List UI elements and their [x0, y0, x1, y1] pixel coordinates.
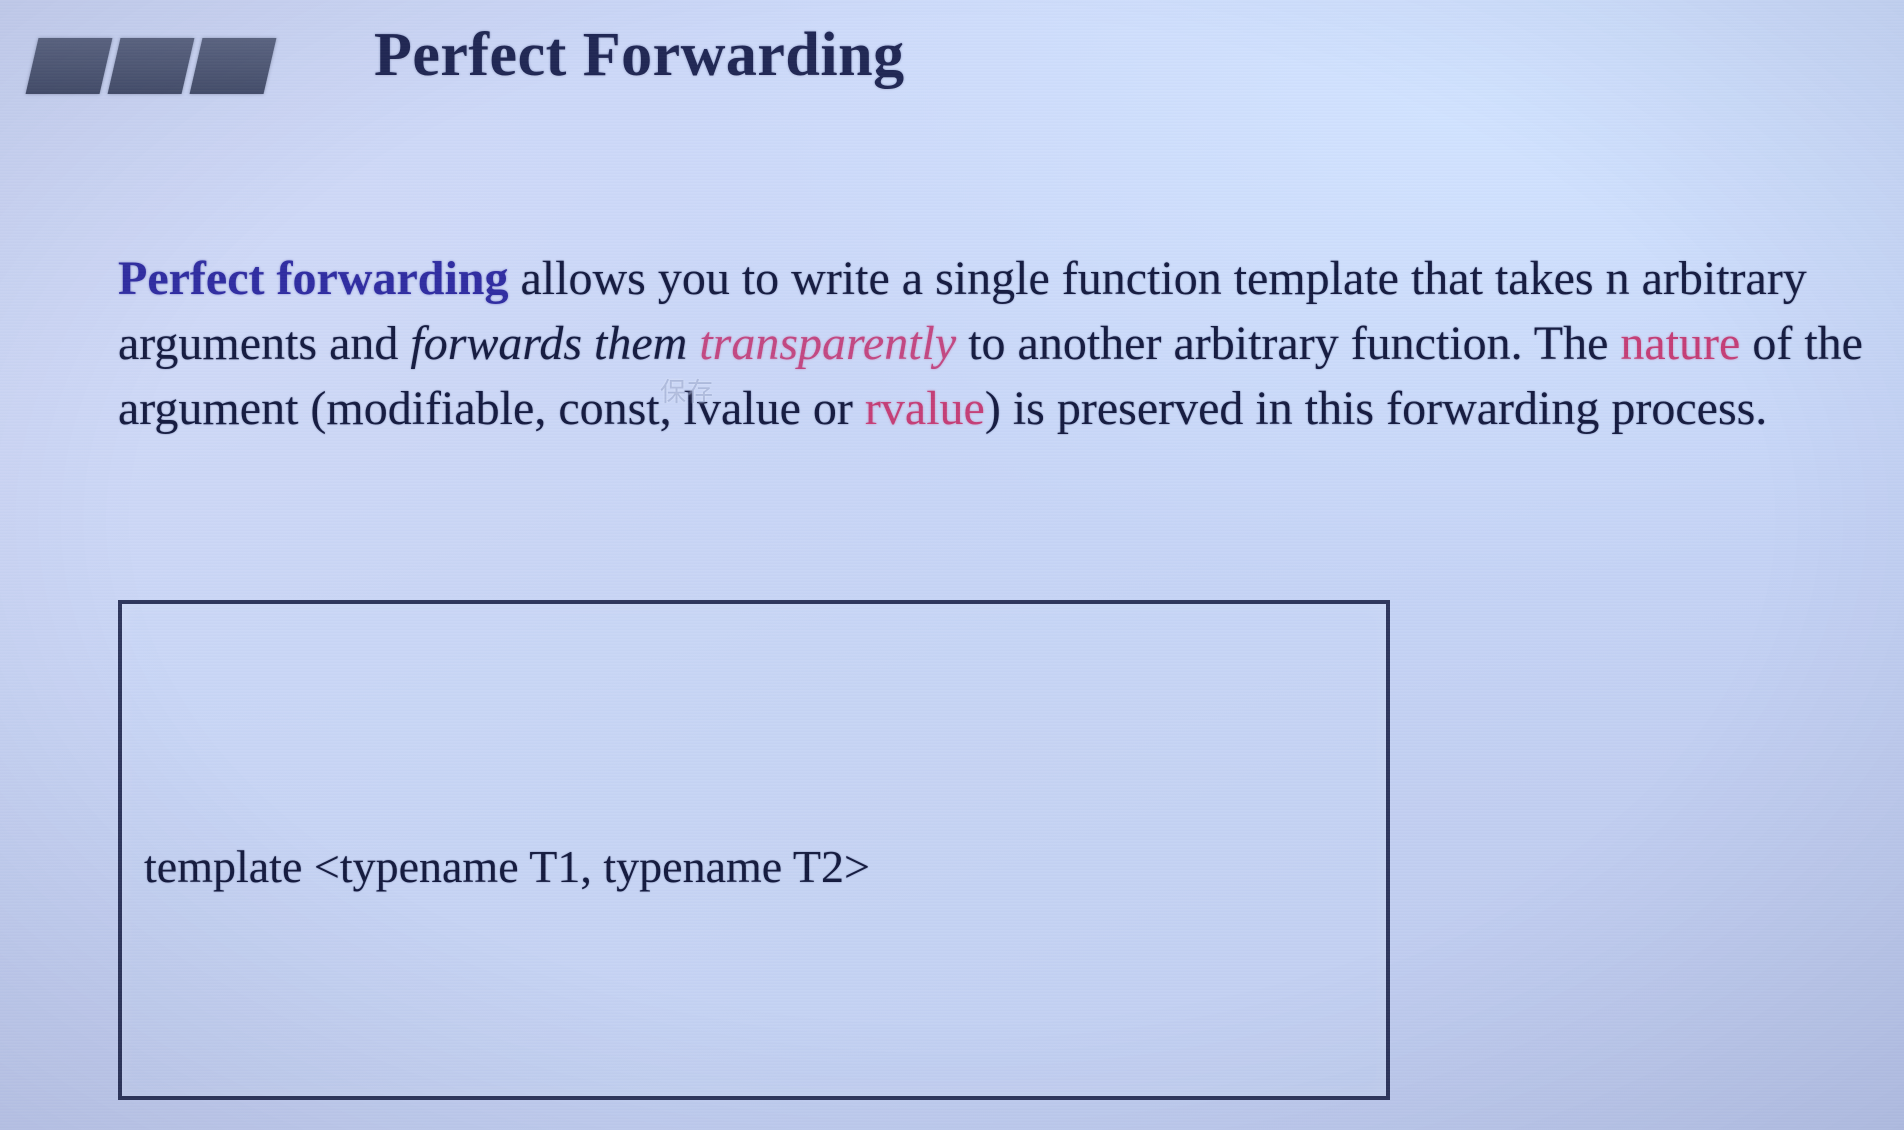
page-title: Perfect Forwarding: [374, 20, 905, 91]
title-bullet-marks: [28, 38, 260, 94]
term-perfect-forwarding: Perfect forwarding: [118, 252, 509, 305]
code-token-t2-param: t2): [760, 1125, 823, 1130]
parallelogram-mark-icon-3: [190, 38, 277, 94]
slide-canvas: Perfect Forwarding Perfect forwarding al…: [0, 0, 1904, 1130]
term-forwards-them: forwards them: [410, 317, 687, 370]
parallelogram-mark-icon-1: [26, 38, 113, 94]
code-token-template: template <typename T1, typename T2>: [144, 841, 870, 892]
body-space-1: [687, 317, 699, 370]
term-nature: nature: [1620, 317, 1740, 370]
body-text-run-2: to another arbitrary function. The: [956, 317, 1620, 370]
parallelogram-mark-icon-2: [108, 38, 195, 94]
code-block: template <typename T1, typename T2> void…: [144, 618, 1376, 1130]
code-token-ampamp-1: &&: [490, 1125, 565, 1130]
term-rvalue: rvalue: [865, 382, 985, 435]
code-example-box: template <typename T1, typename T2> void…: [118, 600, 1390, 1100]
body-text-run-4: ) is preserved in this forwarding proces…: [985, 382, 1767, 435]
code-line-1: template <typename T1, typename T2>: [144, 831, 1376, 902]
code-line-2: void functionA(T1&& t1, T2&& t2): [144, 1115, 1376, 1130]
code-token-ampamp-2: &&: [685, 1125, 760, 1130]
term-transparently: transparently: [699, 317, 956, 370]
slide-title-row: Perfect Forwarding: [0, 18, 1904, 128]
body-paragraph: Perfect forwarding allows you to write a…: [118, 246, 1874, 441]
code-token-void-functiona: void functionA(T1: [144, 1125, 490, 1130]
code-token-t1-param: t1, T2: [565, 1125, 686, 1130]
